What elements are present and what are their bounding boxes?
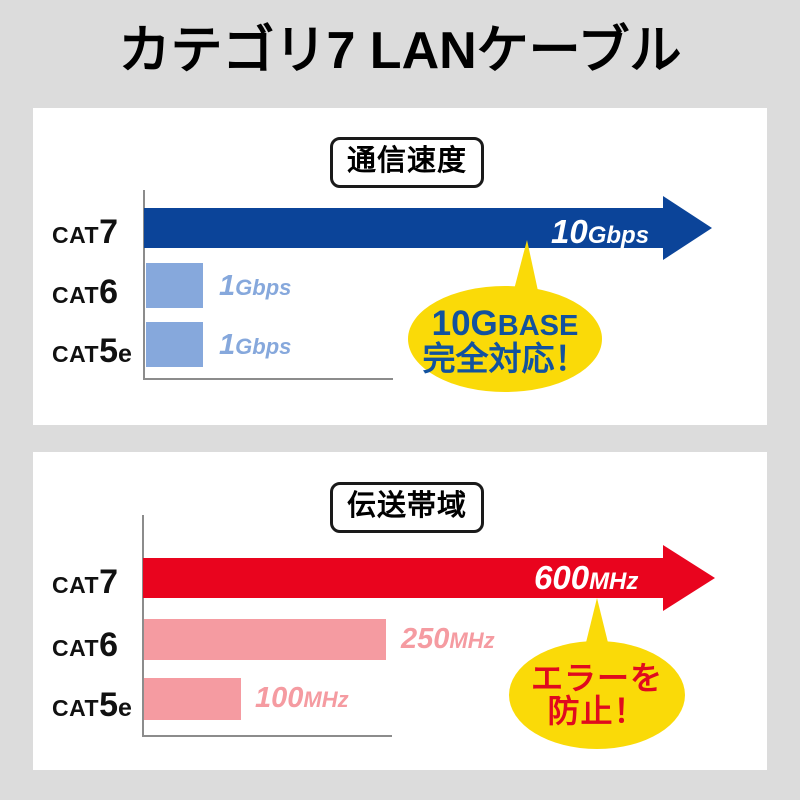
bandwidth-chart-x-axis xyxy=(142,735,392,737)
callout-line-1: エラーを xyxy=(505,662,689,695)
bandwidth-bar-cat5e-value: 100MHz xyxy=(255,684,349,713)
callout-error-prevention: エラーを 防止！ xyxy=(505,595,705,753)
speed-category-label-cat5e: CAT5e xyxy=(52,334,132,368)
speed-chart-x-axis xyxy=(143,378,393,380)
cat-word: CAT xyxy=(52,572,99,598)
callout-line-2: 完全対応！ xyxy=(405,342,605,376)
bandwidth-category-label-cat6: CAT6 xyxy=(52,628,118,662)
bandwidth-bar-cat6 xyxy=(144,619,386,660)
value-number: 600 xyxy=(534,559,589,596)
callout-error-text: エラーを 防止！ xyxy=(505,662,689,729)
cat-suffix: e xyxy=(118,340,132,368)
cat-word: CAT xyxy=(52,341,99,367)
bandwidth-bar-cat7-value: 600MHz xyxy=(534,561,638,594)
value-unit: MHz xyxy=(449,628,494,653)
callout-10gbase: 10GBASE 完全対応！ xyxy=(405,236,605,394)
cat-number: 7 xyxy=(99,213,118,251)
speed-bar-cat5e-value: 1Gbps xyxy=(219,331,291,360)
callout-base: BASE xyxy=(498,310,579,342)
bandwidth-section-header: 伝送帯域 xyxy=(330,482,484,533)
bandwidth-category-label-cat7: CAT7 xyxy=(52,565,118,599)
speed-bar-cat5e xyxy=(146,322,203,367)
cat-number: 7 xyxy=(99,563,118,601)
callout-10gbase-text: 10GBASE 完全対応！ xyxy=(405,306,605,377)
cat-word: CAT xyxy=(52,695,99,721)
speed-section-header: 通信速度 xyxy=(330,137,484,188)
speed-bar-cat6 xyxy=(146,263,203,308)
bandwidth-bar-cat5e xyxy=(144,678,241,720)
cat-suffix: e xyxy=(118,694,132,722)
bandwidth-bar-cat6-value: 250MHz xyxy=(401,625,495,654)
value-number: 1 xyxy=(219,329,235,361)
value-unit: Gbps xyxy=(235,334,291,359)
callout-line-1: 10GBASE xyxy=(405,306,605,342)
cat-number: 6 xyxy=(99,273,118,311)
value-unit: Gbps xyxy=(235,275,291,300)
callout-line-2: 防止！ xyxy=(505,695,689,728)
cat-number: 6 xyxy=(99,626,118,664)
cat-word: CAT xyxy=(52,222,99,248)
page-title: カテゴリ7 LANケーブル xyxy=(0,18,800,84)
cat-number: 5 xyxy=(99,332,118,370)
speed-bar-cat6-value: 1Gbps xyxy=(219,272,291,301)
callout-10g: 10G xyxy=(432,304,498,343)
value-unit: MHz xyxy=(303,687,348,712)
cat-number: 5 xyxy=(99,686,118,724)
bandwidth-category-label-cat5e: CAT5e xyxy=(52,688,132,722)
value-number: 250 xyxy=(401,623,449,655)
value-number: 1 xyxy=(219,270,235,302)
speed-category-label-cat7: CAT7 xyxy=(52,215,118,249)
cat-word: CAT xyxy=(52,635,99,661)
value-number: 100 xyxy=(255,682,303,714)
value-unit: MHz xyxy=(589,568,638,595)
speed-category-label-cat6: CAT6 xyxy=(52,275,118,309)
cat-word: CAT xyxy=(52,282,99,308)
